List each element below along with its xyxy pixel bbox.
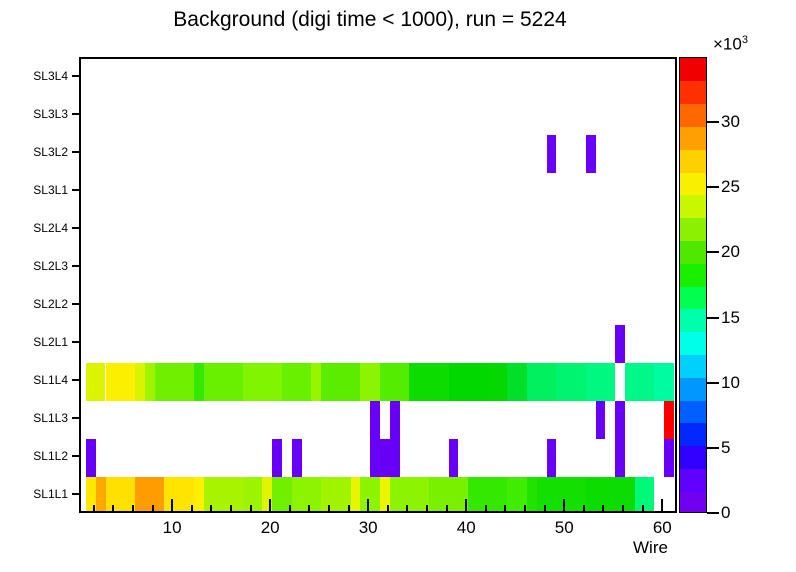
x-axis-minor-tick [93, 505, 95, 513]
x-axis-major-tick [269, 499, 271, 513]
heatmap-cell [468, 477, 507, 513]
y-axis-tick [72, 379, 81, 381]
palette-label-25: 25 [721, 177, 740, 197]
palette-band [680, 263, 706, 286]
y-axis-tick [72, 227, 81, 229]
y-axis-label-sl1l3: SL1L3 [33, 411, 68, 425]
chart-title: Background (digi time < 1000), run = 522… [0, 8, 740, 32]
x-axis-minor-tick [406, 505, 408, 513]
palette-band [680, 149, 706, 172]
heatmap-cell [164, 477, 193, 513]
heatmap-cell [243, 477, 263, 513]
y-axis-tick [72, 417, 81, 419]
heatmap-cell [204, 363, 243, 401]
heatmap-cells [81, 59, 675, 511]
palette-label-15: 15 [721, 308, 740, 328]
palette-band [680, 240, 706, 263]
x-axis-minor-tick [328, 505, 330, 513]
x-axis-label-60: 60 [653, 518, 672, 538]
palette-band [680, 81, 706, 104]
x-axis-minor-tick [210, 505, 212, 513]
x-axis-title: Wire [633, 538, 668, 558]
y-axis-label-sl3l1: SL3L1 [33, 183, 68, 197]
x-axis-minor-tick [504, 505, 506, 513]
x-axis-minor-tick [642, 505, 644, 513]
heatmap-cell [586, 363, 615, 401]
palette-band [680, 400, 706, 423]
palette-band [680, 286, 706, 309]
x-axis-minor-tick [230, 505, 232, 513]
heatmap-cell [243, 363, 282, 401]
heatmap-cell [527, 477, 537, 513]
palette-tick [707, 317, 719, 319]
palette-band [680, 104, 706, 127]
y-axis-tick [72, 341, 81, 343]
x-axis-minor-tick [583, 505, 585, 513]
x-axis-label-30: 30 [359, 518, 378, 538]
heatmap-cell [390, 401, 400, 439]
palette-band [680, 58, 706, 81]
y-axis-label-sl2l4: SL2L4 [33, 221, 68, 235]
heatmap-cell [547, 135, 557, 173]
palette-band [680, 491, 706, 513]
y-axis-label-sl3l2: SL3L2 [33, 145, 68, 159]
x-axis-major-tick [171, 499, 173, 513]
palette-band [680, 172, 706, 195]
y-axis-tick [72, 151, 81, 153]
y-axis-tick [72, 303, 81, 305]
x-axis-label-10: 10 [163, 518, 182, 538]
plot-frame [79, 57, 677, 513]
heatmap-cell [272, 439, 282, 477]
x-axis-minor-tick [289, 505, 291, 513]
y-axis-tick [72, 189, 81, 191]
heatmap-cell [547, 439, 557, 477]
palette-band [680, 309, 706, 332]
heatmap-cell [390, 477, 429, 513]
x-axis-major-tick [563, 499, 565, 513]
y-axis-label-sl2l1: SL2L1 [33, 335, 68, 349]
heatmap-cell [370, 439, 399, 477]
heatmap-cell [282, 363, 311, 401]
heatmap-cell [449, 439, 459, 477]
heatmap-cell [360, 363, 380, 401]
palette-band [680, 446, 706, 469]
heatmap-cell [409, 363, 448, 401]
heatmap-cell [194, 477, 204, 513]
heatmap-cell [586, 135, 596, 173]
heatmap-cell [292, 439, 302, 477]
heatmap-cell [488, 363, 508, 401]
x-axis-minor-tick [250, 505, 252, 513]
heatmap-cell [664, 401, 674, 439]
y-axis-tick [72, 75, 81, 77]
heatmap-cell [135, 363, 145, 401]
x-axis-minor-tick [112, 505, 114, 513]
x-axis-minor-tick [602, 505, 604, 513]
color-palette-bar [679, 57, 707, 513]
palette-label-5: 5 [721, 438, 730, 458]
x-axis-major-tick [661, 499, 663, 513]
heatmap-cell [615, 439, 625, 477]
root-canvas: Background (digi time < 1000), run = 522… [0, 0, 796, 572]
palette-tick [707, 251, 719, 253]
y-axis-label-sl1l1: SL1L1 [33, 487, 68, 501]
heatmap-cell [86, 439, 96, 477]
palette-exponent-prefix: ×10 [713, 35, 742, 54]
x-axis-minor-tick [524, 505, 526, 513]
y-axis-label-sl3l4: SL3L4 [33, 69, 68, 83]
palette-tick [707, 121, 719, 123]
heatmap-cell [321, 477, 350, 513]
x-axis-minor-tick [446, 505, 448, 513]
heatmap-cell [351, 477, 361, 513]
heatmap-cell [106, 363, 135, 401]
heatmap-cell [664, 439, 674, 477]
heatmap-cell [360, 477, 380, 513]
heatmap-cell [596, 401, 606, 439]
x-axis-minor-tick [191, 505, 193, 513]
palette-tick [707, 186, 719, 188]
heatmap-cell [625, 363, 654, 401]
x-axis-label-20: 20 [261, 518, 280, 538]
palette-band [680, 354, 706, 377]
heatmap-cell [155, 363, 194, 401]
palette-band [680, 126, 706, 149]
heatmap-cell [145, 363, 155, 401]
heatmap-cell [86, 363, 106, 401]
y-axis-tick [72, 493, 81, 495]
heatmap-cell [311, 363, 321, 401]
heatmap-cell [615, 325, 625, 363]
heatmap-cell [527, 363, 556, 401]
heatmap-cell [615, 401, 625, 439]
palette-tick [707, 447, 719, 449]
x-axis-major-tick [465, 499, 467, 513]
palette-label-30: 30 [721, 112, 740, 132]
heatmap-cell [654, 363, 674, 401]
y-axis-label-sl2l3: SL2L3 [33, 259, 68, 273]
x-axis-major-tick [367, 499, 369, 513]
heatmap-cell [370, 401, 380, 439]
x-axis-minor-tick [485, 505, 487, 513]
heatmap-cell [135, 477, 164, 513]
palette-label-10: 10 [721, 373, 740, 393]
x-axis-minor-tick [544, 505, 546, 513]
heatmap-cell [556, 363, 585, 401]
palette-band [680, 195, 706, 218]
palette-band [680, 423, 706, 446]
heatmap-cell [194, 363, 204, 401]
x-axis-minor-tick [348, 505, 350, 513]
heatmap-cell [586, 477, 635, 513]
x-axis-label-40: 40 [457, 518, 476, 538]
palette-label-20: 20 [721, 242, 740, 262]
x-axis-minor-tick [622, 505, 624, 513]
heatmap-cell [106, 477, 135, 513]
heatmap-cell [292, 477, 321, 513]
palette-band [680, 468, 706, 491]
heatmap-cell [429, 477, 468, 513]
heatmap-cell [449, 363, 488, 401]
y-axis-label-sl2l2: SL2L2 [33, 297, 68, 311]
x-axis-minor-tick [387, 505, 389, 513]
palette-band [680, 218, 706, 241]
y-axis-tick [72, 113, 81, 115]
palette-exponent-power: 3 [742, 34, 748, 46]
heatmap-cell [380, 363, 409, 401]
palette-band [680, 377, 706, 400]
palette-tick [707, 382, 719, 384]
x-axis-label-50: 50 [555, 518, 574, 538]
palette-label-0: 0 [721, 503, 730, 523]
y-axis-label-sl1l4: SL1L4 [33, 373, 68, 387]
heatmap-cell [321, 363, 360, 401]
palette-band [680, 332, 706, 355]
palette-tick [707, 512, 719, 514]
heatmap-cell [96, 477, 106, 513]
y-axis-label-sl3l3: SL3L3 [33, 107, 68, 121]
x-axis-minor-tick [152, 505, 154, 513]
y-axis-tick [72, 265, 81, 267]
y-axis-tick [72, 455, 81, 457]
x-axis-minor-tick [426, 505, 428, 513]
heatmap-cell [635, 477, 655, 513]
x-axis-minor-tick [132, 505, 134, 513]
palette-exponent-label: ×103 [713, 34, 748, 55]
x-axis-minor-tick [308, 505, 310, 513]
heatmap-cell [507, 363, 527, 401]
y-axis-label-sl1l2: SL1L2 [33, 449, 68, 463]
